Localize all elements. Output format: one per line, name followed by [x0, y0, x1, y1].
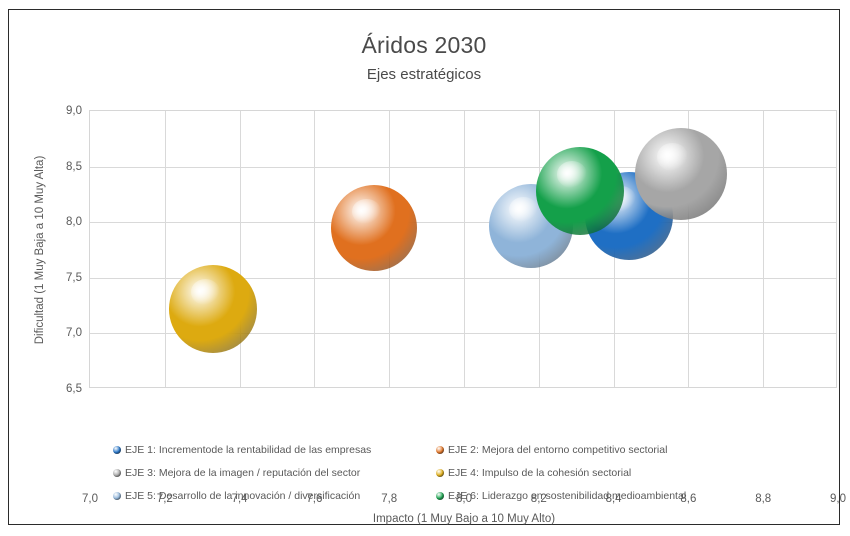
chart-legend: EJE 1: Incrementode la rentabilidad de l…: [113, 444, 773, 502]
legend-item-eje-6[interactable]: EJE 6: Liderazgo en sostenibilidad medio…: [436, 490, 773, 502]
bubble-eje-4[interactable]: [169, 265, 257, 353]
plot-area: 6,57,07,58,08,59,0 7,07,27,47,67,88,08,2…: [89, 110, 837, 388]
y-tick-label: 8,0: [42, 216, 82, 228]
gridline-vertical: [165, 111, 166, 387]
chart-frame: Áridos 2030 Ejes estratégicos 6,57,07,58…: [8, 9, 840, 525]
legend-marker-icon: [113, 492, 121, 500]
chart-title: Áridos 2030: [9, 32, 839, 59]
legend-label: EJE 2: Mejora del entorno competitivo se…: [448, 444, 667, 456]
bubble-highlight: [657, 143, 688, 171]
gridline-vertical: [763, 111, 764, 387]
legend-label: EJE 3: Mejora de la imagen / reputación …: [125, 467, 360, 479]
y-tick-label: 7,5: [42, 272, 82, 284]
legend-item-eje-4[interactable]: EJE 4: Impulso de la cohesión sectorial: [436, 467, 773, 479]
y-axis-title: Dificultad (1 Muy Baja a 10 Muy Alta): [34, 111, 46, 389]
x-tick-label: 7,0: [70, 493, 110, 505]
legend-label: EJE 4: Impulso de la cohesión sectorial: [448, 467, 631, 479]
gridline-horizontal: [90, 222, 836, 223]
legend-label: EJE 5: Desarrollo de la innovación / div…: [125, 490, 360, 502]
legend-label: EJE 6: Liderazgo en sostenibilidad medio…: [448, 490, 686, 502]
legend-marker-icon: [113, 446, 121, 454]
y-tick-label: 8,5: [42, 161, 82, 173]
legend-item-eje-2[interactable]: EJE 2: Mejora del entorno competitivo se…: [436, 444, 773, 456]
bubble-eje-3[interactable]: [635, 128, 727, 220]
bubble-highlight: [557, 161, 587, 187]
bubble-highlight: [352, 199, 381, 225]
gridline-vertical: [464, 111, 465, 387]
x-tick-label: 9,0: [818, 493, 850, 505]
legend-item-eje-5[interactable]: EJE 5: Desarrollo de la innovación / div…: [113, 490, 436, 502]
x-axis-title: Impacto (1 Muy Bajo a 10 Muy Alto): [90, 513, 838, 525]
legend-item-eje-3[interactable]: EJE 3: Mejora de la imagen / reputación …: [113, 467, 436, 479]
legend-marker-icon: [436, 446, 444, 454]
legend-item-eje-1[interactable]: EJE 1: Incrementode la rentabilidad de l…: [113, 444, 436, 456]
y-tick-label: 9,0: [42, 105, 82, 117]
legend-marker-icon: [436, 469, 444, 477]
y-tick-label: 7,0: [42, 327, 82, 339]
bubble-highlight: [509, 197, 538, 222]
gridline-vertical: [240, 111, 241, 387]
legend-marker-icon: [436, 492, 444, 500]
chart-subtitle: Ejes estratégicos: [9, 66, 839, 83]
bubble-eje-2[interactable]: [331, 185, 417, 271]
y-tick-label: 6,5: [42, 383, 82, 395]
legend-marker-icon: [113, 469, 121, 477]
bubble-eje-6[interactable]: [536, 147, 624, 235]
gridline-vertical: [314, 111, 315, 387]
legend-label: EJE 1: Incrementode la rentabilidad de l…: [125, 444, 371, 456]
bubble-highlight: [191, 279, 221, 305]
